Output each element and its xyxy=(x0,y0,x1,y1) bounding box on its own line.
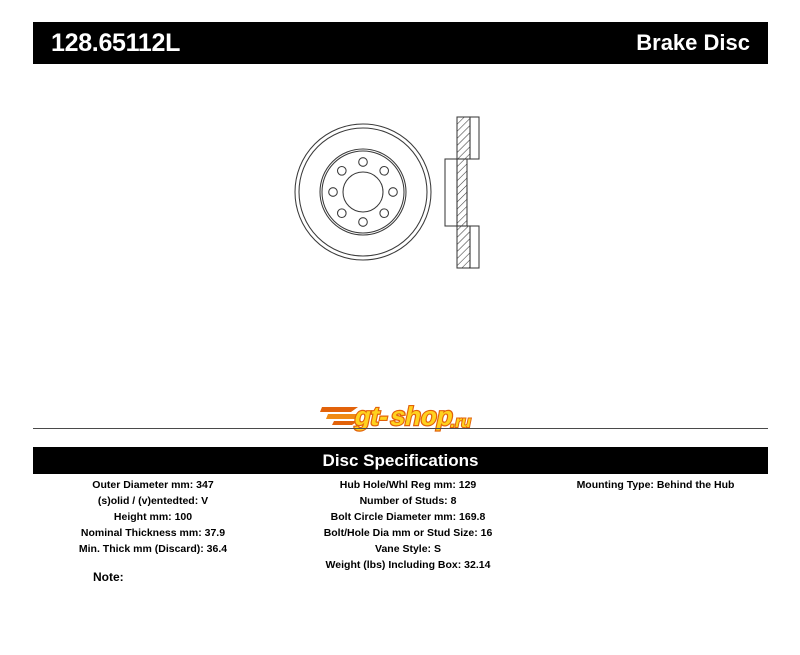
watermark-text-gt: gt- xyxy=(352,401,391,431)
spec-column-right: Mounting Type: Behind the Hub xyxy=(543,477,768,493)
stud-hole xyxy=(380,209,389,218)
section-lower-friction-wall xyxy=(457,226,470,268)
disc-specifications-title: Disc Specifications xyxy=(323,452,479,469)
stud-hole xyxy=(329,188,338,197)
spec-column-left: Outer Diameter mm: 347 (s)olid / (v)ente… xyxy=(33,477,273,557)
stud-hole xyxy=(359,158,368,167)
brake-disc-face-view xyxy=(295,124,431,260)
stud-hole-group xyxy=(329,158,398,227)
spec-row: Height mm: 100 xyxy=(114,509,192,525)
spec-row: Bolt Circle Diameter mm: 169.8 xyxy=(331,509,486,525)
spec-column-middle: Hub Hole/Whl Reg mm: 129 Number of Studs… xyxy=(273,477,543,573)
section-upper-friction-wall xyxy=(457,117,470,159)
spec-row: Min. Thick mm (Discard): 36.4 xyxy=(79,541,227,557)
stud-hole xyxy=(338,167,347,176)
spec-row: Nominal Thickness mm: 37.9 xyxy=(81,525,225,541)
section-divider xyxy=(33,428,768,429)
product-title: Brake Disc xyxy=(636,32,750,54)
watermark-wordmark: gt- shop .ru xyxy=(352,401,476,431)
spec-row: Outer Diameter mm: 347 xyxy=(92,477,213,493)
rotor-hat-inner-circle xyxy=(322,151,404,233)
section-upper-outer-wall xyxy=(470,117,479,159)
technical-drawing-area: gt- shop .ru xyxy=(0,90,800,390)
spec-row: Mounting Type: Behind the Hub xyxy=(577,477,735,493)
note-field: Note: xyxy=(93,568,328,586)
brake-disc-cross-section-view xyxy=(445,117,479,268)
stud-hole xyxy=(338,209,347,218)
gt-shop-watermark: gt- shop .ru xyxy=(318,393,498,439)
stud-hole xyxy=(380,167,389,176)
hub-bore-circle xyxy=(343,172,383,212)
header-bar: 128.65112L Brake Disc xyxy=(33,22,768,64)
section-hat-inner-chamber xyxy=(445,159,457,226)
section-lower-outer-wall xyxy=(470,226,479,268)
rotor-outer-edge-circle xyxy=(295,124,431,260)
stud-hole xyxy=(359,218,368,227)
spec-row: Bolt/Hole Dia mm or Stud Size: 16 xyxy=(324,525,493,541)
brake-disc-drawing xyxy=(290,100,520,300)
specifications-table: Outer Diameter mm: 347 (s)olid / (v)ente… xyxy=(33,477,768,573)
section-hat-wall xyxy=(457,159,467,226)
part-number: 128.65112L xyxy=(51,31,180,56)
note-label: Note: xyxy=(93,570,124,584)
spec-row: Weight (lbs) Including Box: 32.14 xyxy=(326,557,491,573)
spec-row: Number of Studs: 8 xyxy=(360,493,457,509)
stud-hole xyxy=(389,188,398,197)
spec-row: Vane Style: S xyxy=(375,541,441,557)
rotor-friction-band-circle xyxy=(299,128,427,256)
watermark-text-shop: shop xyxy=(388,401,456,431)
spec-row: (s)olid / (v)entedted: V xyxy=(98,493,208,509)
rotor-hat-outer-circle xyxy=(320,149,406,235)
spec-row: Hub Hole/Whl Reg mm: 129 xyxy=(340,477,477,493)
disc-specifications-bar: Disc Specifications xyxy=(33,447,768,474)
